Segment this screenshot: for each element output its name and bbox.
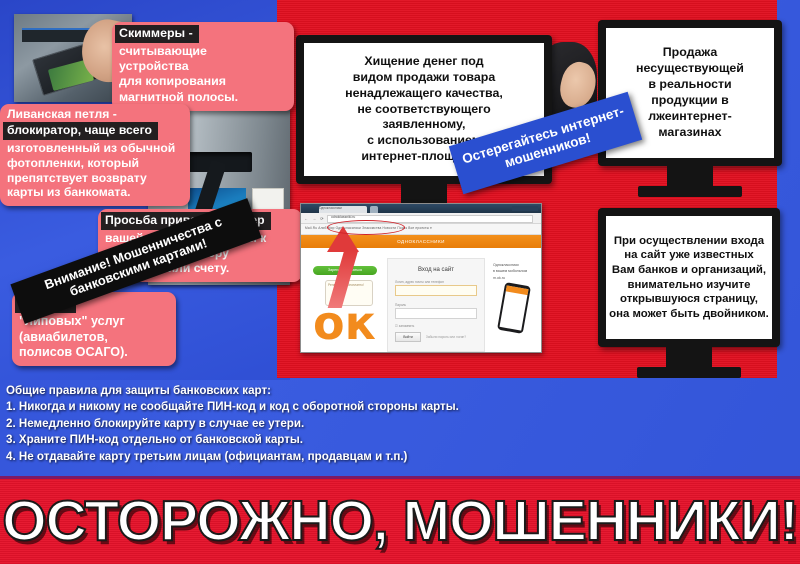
rule-item-4: 4. Не отдавайте карту третьим лицам (офи… bbox=[6, 449, 546, 465]
submit-button[interactable]: Войти bbox=[395, 332, 421, 342]
card-skimmer-line-2: устройства bbox=[119, 59, 287, 74]
card-loop-pre: Ливанская петля - bbox=[7, 107, 183, 122]
monitor-entry-neck bbox=[666, 347, 712, 367]
card-lebanese-loop: Ливанская петля - блокиратор, чаще всего… bbox=[0, 104, 190, 206]
browser-title-bar: Одноклассники bbox=[301, 204, 541, 213]
monitor-sale-line-1: Продажа bbox=[663, 45, 717, 61]
card-fake-line-2: (авиабилетов, bbox=[19, 330, 169, 345]
monitor-sale-line-2: несуществующей bbox=[636, 61, 744, 77]
smartphone-icon bbox=[497, 282, 531, 334]
card-loop-line-2: фотопленки, который bbox=[7, 156, 183, 171]
mobile-promo-sub: в вашем мобильном m.ok.ru bbox=[493, 268, 539, 281]
monitor-entry-line-2: на сайт уже известных bbox=[624, 248, 753, 263]
monitor-entry-base bbox=[637, 367, 741, 378]
monitor-sale-line-6: магазинах bbox=[658, 125, 721, 141]
remember-checkbox[interactable]: ☑ запомнить bbox=[388, 319, 484, 328]
poster-main-title: ОСТОРОЖНО, МОШЕННИКИ! bbox=[0, 479, 800, 564]
monitor-entry: При осуществлении входа на сайт уже изве… bbox=[598, 208, 780, 378]
url-highlight-oval bbox=[327, 220, 405, 235]
browser-new-tab-button[interactable] bbox=[370, 206, 378, 213]
monitor-theft-line-2: видом продажи товара bbox=[353, 70, 495, 86]
monitor-sale-neck bbox=[667, 166, 713, 186]
monitor-entry-line-6: она может быть двойником. bbox=[609, 307, 769, 322]
window-controls[interactable] bbox=[512, 206, 538, 211]
card-skimmer-line-4: магнитной полосы. bbox=[119, 90, 287, 105]
login-field-label: Логин, адрес почты или телефон bbox=[388, 273, 484, 285]
mobile-promo: Одноклассники в вашем мобильном m.ok.ru bbox=[493, 262, 539, 281]
monitor-theft-line-1: Хищение денег под bbox=[364, 54, 483, 70]
monitor-entry-line-4: внимательно изучите bbox=[628, 278, 751, 293]
card-fake-line-3: полисов ОСАГО). bbox=[19, 345, 169, 360]
monitor-sale-base bbox=[638, 186, 742, 197]
rule-item-3: 3. Храните ПИН-код отдельно от банковско… bbox=[6, 432, 546, 448]
monitor-entry-screen: При осуществлении входа на сайт уже изве… bbox=[606, 216, 772, 339]
forgot-password-link[interactable]: Забыли пароль или логин? bbox=[426, 335, 466, 339]
card-skimmer-head: Скиммеры - bbox=[115, 25, 199, 43]
monitor-entry-line-5: открывшуюся страницу, bbox=[620, 292, 758, 307]
login-input[interactable] bbox=[395, 285, 477, 296]
card-skimmer: Скиммеры - считывающие устройства для ко… bbox=[112, 22, 294, 111]
rules-title: Общие правила для защиты банковских карт… bbox=[6, 383, 546, 399]
card-skimmer-line-1: считывающие bbox=[119, 44, 287, 59]
card-loop-head: блокиратор, чаще всего bbox=[3, 122, 158, 140]
card-loop-line-3: препятствует возврату bbox=[7, 171, 183, 186]
smartphone-screen bbox=[500, 285, 529, 330]
odnoklassniki-logo-icon: ок bbox=[313, 302, 355, 348]
monitor-theft-line-4: не соответствующего bbox=[357, 102, 490, 118]
card-loop-line-4: карты из банкомата. bbox=[7, 185, 183, 200]
monitor-sale-line-3: в реальности bbox=[648, 77, 731, 93]
password-input[interactable] bbox=[395, 308, 477, 319]
rule-item-1: 1. Никогда и никому не сообщайте ПИН-код… bbox=[6, 399, 546, 415]
card-loop-line-1: изготовленный из обычной bbox=[7, 141, 183, 156]
monitor-theft: Хищение денег под видом продажи товара н… bbox=[296, 35, 552, 215]
monitor-theft-line-5: заявленному, bbox=[383, 117, 466, 133]
bottom-warning-banner: ОСТОРОЖНО, МОШЕННИКИ! bbox=[0, 479, 800, 564]
monitor-entry-line-1: При осуществлении входа bbox=[614, 234, 764, 249]
monitor-sale-line-4: продукции в bbox=[651, 93, 728, 109]
monitor-sale-line-5: лжеинтернет- bbox=[648, 109, 731, 125]
monitor-theft-neck bbox=[401, 184, 447, 204]
browser-url-text[interactable]: odnoklassniki.ru bbox=[331, 215, 355, 219]
fake-site-browser-screenshot: Одноклассники ← → ⟳ ⌂ odnoklassniki.ru M… bbox=[300, 203, 542, 353]
smartphone-app-bar bbox=[506, 285, 529, 295]
login-title: Вход на сайт bbox=[388, 259, 484, 273]
monitor-entry-line-3: Вам банков и организаций, bbox=[612, 263, 766, 278]
general-rules-block: Общие правила для защиты банковских карт… bbox=[6, 383, 546, 465]
browser-tab[interactable]: Одноклассники bbox=[319, 206, 367, 213]
monitor-entry-bezel: При осуществлении входа на сайт уже изве… bbox=[598, 208, 780, 347]
password-field-label: Пароль bbox=[388, 296, 484, 308]
card-skimmer-line-3: для копирования bbox=[119, 74, 287, 89]
rule-item-2: 2. Немедленно блокируйте карту в случае … bbox=[6, 416, 546, 432]
login-panel: Вход на сайт Логин, адрес почты или теле… bbox=[387, 258, 485, 352]
fraud-awareness-poster: Скиммеры - считывающие устройства для ко… bbox=[0, 0, 800, 564]
monitor-theft-line-3: ненадлежащего качества, bbox=[345, 86, 503, 102]
